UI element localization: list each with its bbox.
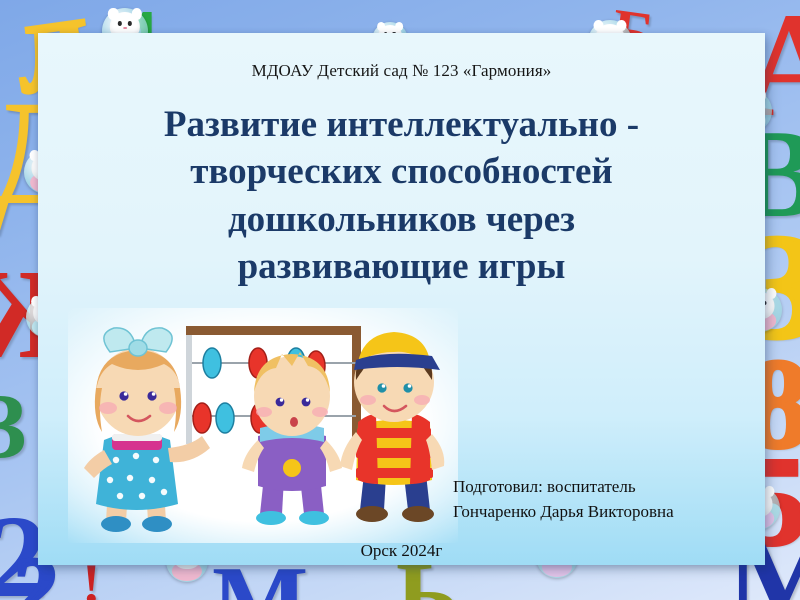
author-role: Подготовил: воспитатель [453,475,743,500]
city-and-year: Орск 2024г [38,541,765,561]
author-name: Гончаренко Дарья Викторовна [453,500,743,525]
title-line-3: дошкольников через [98,196,705,243]
page-title: Развитие интеллектуально - творческих сп… [98,101,705,290]
title-line-1: Развитие интеллектуально - [98,101,705,148]
title-line-2: творческих способностей [98,148,705,195]
author-credit: Подготовил: воспитатель Гончаренко Дарья… [453,475,743,524]
title-line-4: развивающие игры [98,243,705,290]
girl-hair-bow [104,328,172,356]
organization-name: МДОАУ Детский сад № 123 «Гармония» [38,61,765,81]
presentation-slide: Л4БАДЖЗ2ВЗ85ММЬ!2 МДОАУ Детский сад № 12… [0,0,800,600]
decorative-glyph-з: З [0,380,27,472]
slide-content-panel: МДОАУ Детский сад № 123 «Гармония» Разви… [38,33,765,565]
illustration-artwork [68,308,458,543]
three-children-with-abacus-illustration [68,308,458,543]
